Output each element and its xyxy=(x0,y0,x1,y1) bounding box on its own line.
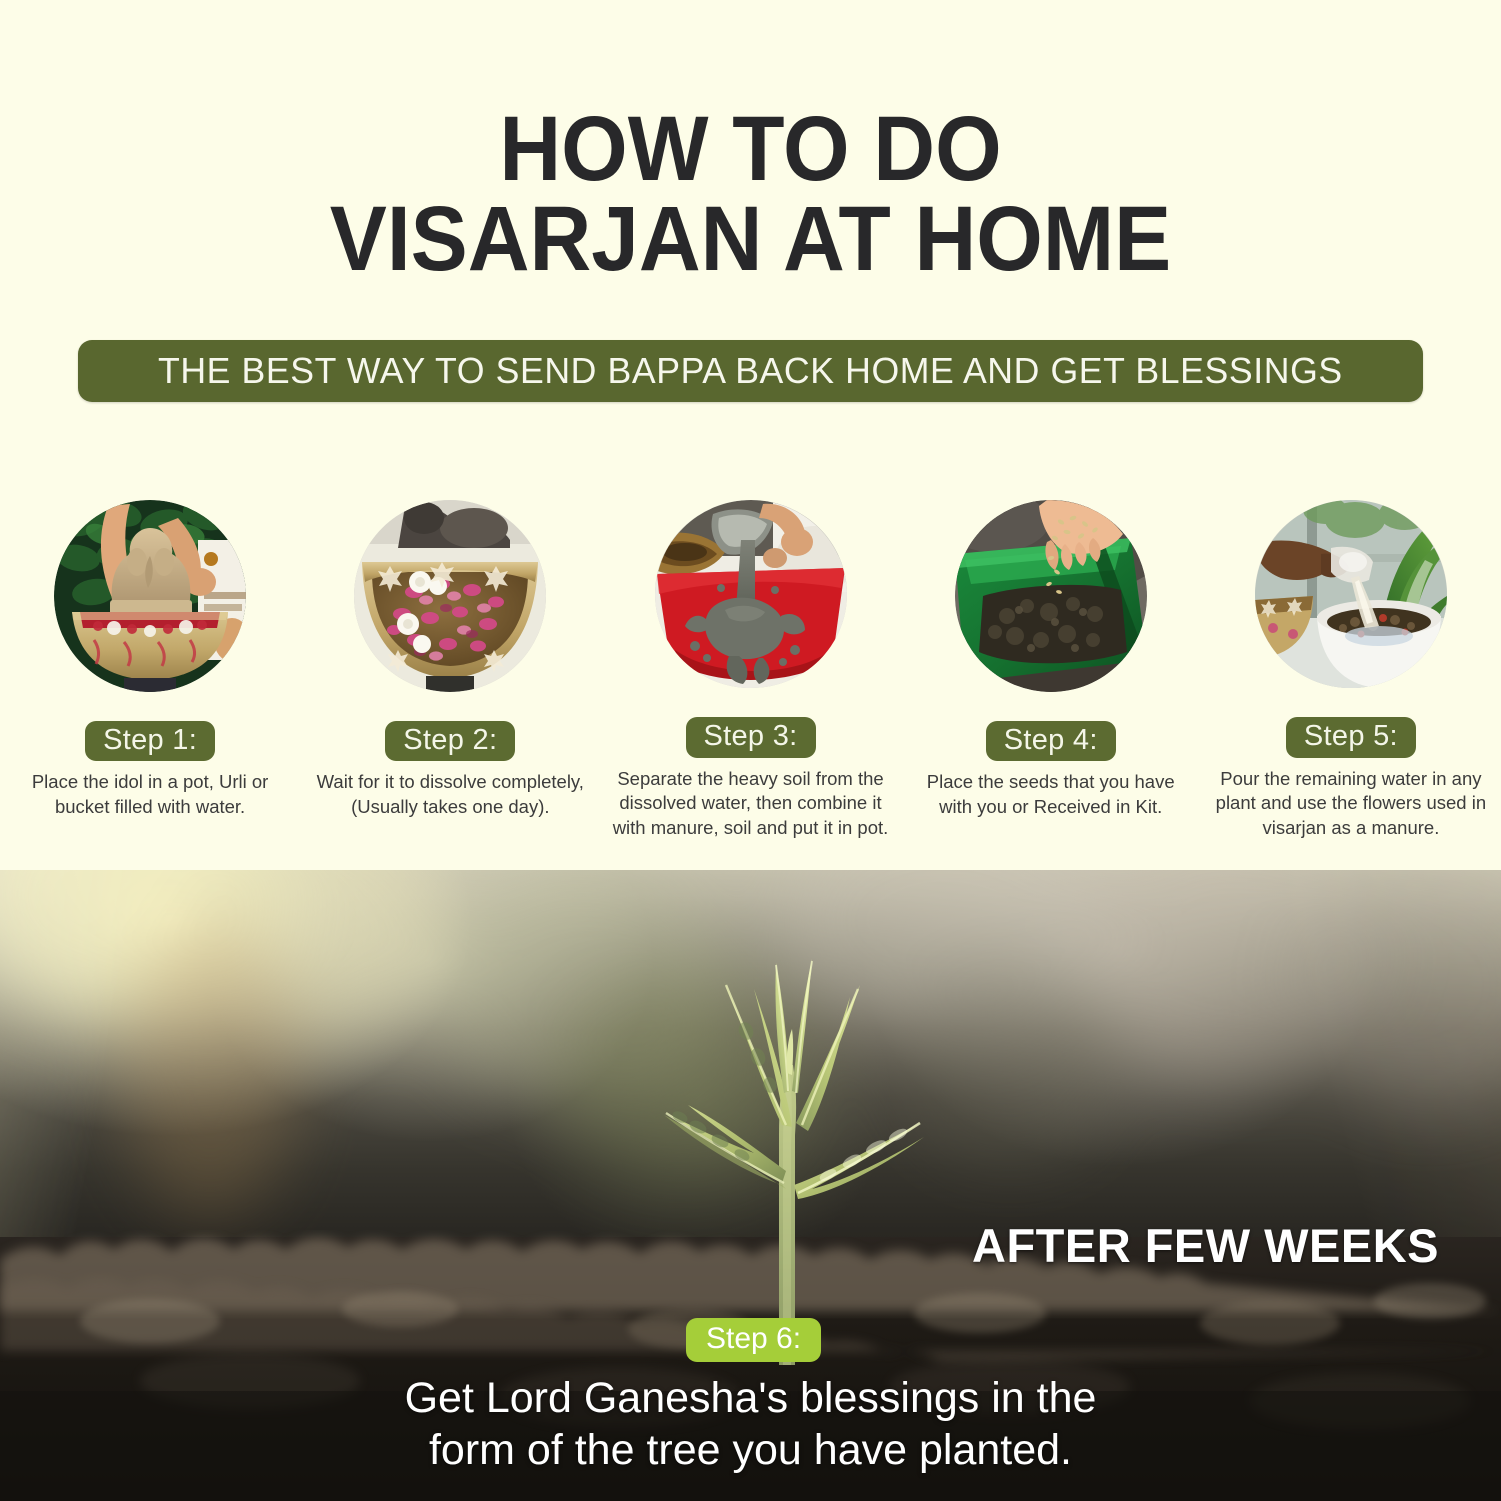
step-item-5: Step 5: Pour the remaining water in any … xyxy=(1201,500,1501,840)
infographic-poster: HOW TO DO VISARJAN AT HOME THE BEST WAY … xyxy=(0,0,1501,1501)
pouring-clay-slurry-on-red-cloth-photo xyxy=(655,500,847,688)
step-caption-2: Wait for it to dissolve completely, (Usu… xyxy=(311,770,589,819)
after-few-weeks-label: AFTER FEW WEEKS xyxy=(972,1218,1439,1273)
step-badge-3: Step 3: xyxy=(686,717,816,757)
step-item-1: Step 1: Place the idol in a pot, Urli or… xyxy=(0,500,300,840)
hand-sprinkling-seeds-in-green-planter-photo xyxy=(955,500,1147,692)
final-message: Get Lord Ganesha's blessings in the form… xyxy=(0,1372,1501,1477)
final-line-2: form of the tree you have planted. xyxy=(0,1424,1501,1476)
subtitle-banner: THE BEST WAY TO SEND BAPPA BACK HOME AND… xyxy=(78,340,1423,402)
watering-plant-from-bottle-photo xyxy=(1255,500,1447,688)
step-badge-2: Step 2: xyxy=(385,721,515,761)
step-badge-1: Step 1: xyxy=(85,721,215,761)
step-badge-6: Step 6: xyxy=(686,1318,821,1362)
step-caption-1: Place the idol in a pot, Urli or bucket … xyxy=(11,770,289,819)
step-item-3: Step 3: Separate the heavy soil from the… xyxy=(600,500,900,840)
idol-placed-in-urli-photo xyxy=(54,500,246,692)
page-title: HOW TO DO VISARJAN AT HOME xyxy=(53,104,1449,284)
step-caption-5: Pour the remaining water in any plant an… xyxy=(1212,767,1490,840)
title-line-1: HOW TO DO xyxy=(499,98,1001,200)
seedling-graphic xyxy=(636,945,936,1365)
step-badge-4: Step 4: xyxy=(986,721,1116,761)
title-line-2: VISARJAN AT HOME xyxy=(53,194,1449,284)
step-caption-4: Place the seeds that you have with you o… xyxy=(912,770,1190,819)
steps-row: Step 1: Place the idol in a pot, Urli or… xyxy=(0,500,1501,840)
final-line-1: Get Lord Ganesha's blessings in the xyxy=(0,1372,1501,1424)
step-caption-3: Separate the heavy soil from the dissolv… xyxy=(612,767,890,840)
step-item-4: Step 4: Place the seeds that you have wi… xyxy=(901,500,1201,840)
subtitle-text: THE BEST WAY TO SEND BAPPA BACK HOME AND… xyxy=(158,350,1343,392)
top-content-panel: HOW TO DO VISARJAN AT HOME THE BEST WAY … xyxy=(0,0,1501,870)
step-badge-5: Step 5: xyxy=(1286,717,1416,757)
dissolved-idol-with-flowers-photo xyxy=(354,500,546,692)
step-item-2: Step 2: Wait for it to dissolve complete… xyxy=(300,500,600,840)
